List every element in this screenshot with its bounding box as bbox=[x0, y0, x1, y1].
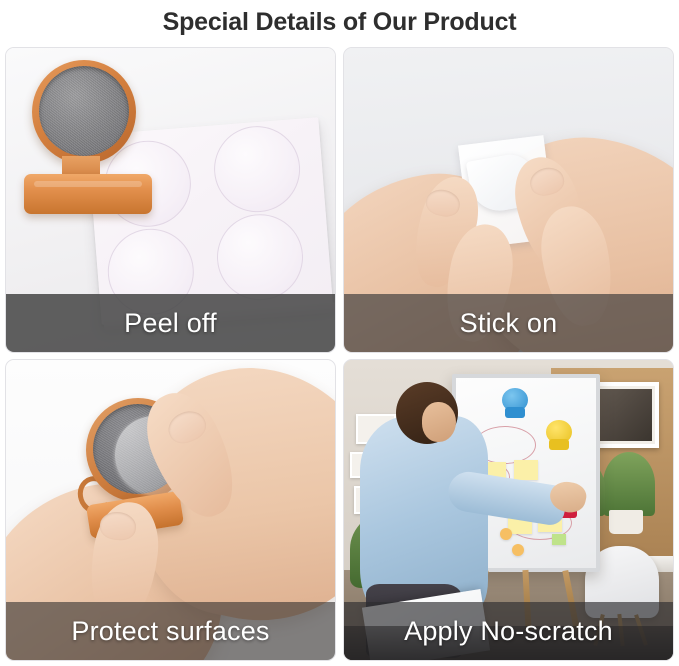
magnet-clip-body bbox=[24, 174, 152, 214]
panel-apply-no-scratch[interactable]: Apply No-scratch bbox=[343, 359, 674, 661]
magnet-disc bbox=[39, 66, 129, 156]
caption-peel-off: Peel off bbox=[6, 294, 335, 352]
panel-protect-surfaces[interactable]: Protect surfaces bbox=[5, 359, 336, 661]
sticky-note-green-2 bbox=[552, 534, 566, 545]
sticky-dot-orange-1 bbox=[500, 528, 512, 540]
caption-apply-no-scratch: Apply No-scratch bbox=[344, 602, 673, 660]
presenter-face bbox=[422, 402, 456, 442]
panel-grid: Peel off Stick on bbox=[5, 47, 674, 661]
sticker-pad-4 bbox=[214, 211, 306, 303]
magnet-yellow-clip bbox=[549, 439, 569, 450]
magnet-clip-ring bbox=[32, 60, 136, 164]
magnet-blue-clip bbox=[505, 407, 525, 418]
sticker-pad-2 bbox=[211, 123, 303, 215]
product-infographic: Special Details of Our Product bbox=[0, 0, 679, 666]
shelf-plant-1 bbox=[603, 452, 655, 516]
panel-stick-on[interactable]: Stick on bbox=[343, 47, 674, 353]
sticky-dot-orange-2 bbox=[512, 544, 524, 556]
sticky-note-2 bbox=[514, 460, 538, 480]
magnet-clip-yellow bbox=[546, 420, 572, 450]
presenter-body bbox=[360, 416, 488, 612]
magnet-clip-blue bbox=[502, 388, 528, 418]
caption-stick-on: Stick on bbox=[344, 294, 673, 352]
page-title: Special Details of Our Product bbox=[0, 0, 679, 45]
shelf-plant-pot bbox=[609, 510, 643, 534]
panel-peel-off[interactable]: Peel off bbox=[5, 47, 336, 353]
magnet-clip bbox=[18, 56, 158, 216]
caption-protect-surfaces: Protect surfaces bbox=[6, 602, 335, 660]
